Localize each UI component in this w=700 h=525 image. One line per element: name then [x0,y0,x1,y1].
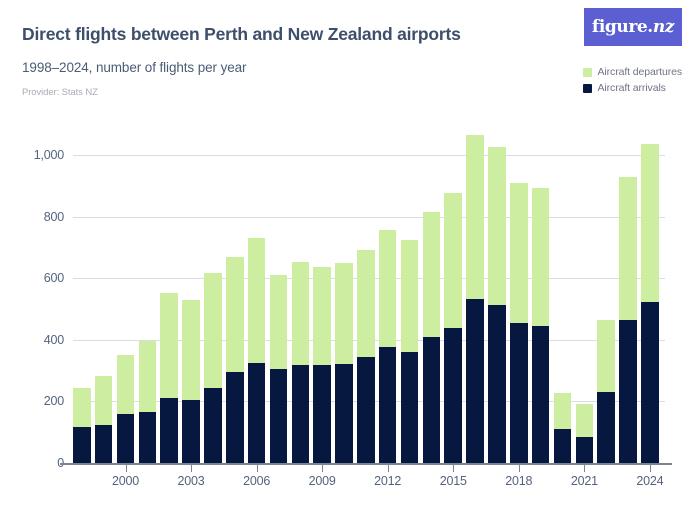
x-axis-tick-label: 2009 [309,474,336,488]
bar-column[interactable] [335,263,353,463]
bar-segment-departures[interactable] [619,177,637,320]
gridline [73,217,665,218]
bar-segment-arrivals[interactable] [117,414,135,463]
bar-column[interactable] [226,257,244,463]
bar-column[interactable] [576,404,594,463]
bar-segment-arrivals[interactable] [95,425,113,463]
bar-column[interactable] [292,262,310,463]
x-axis-tick-label: 2012 [374,474,401,488]
bar-segment-arrivals[interactable] [204,388,222,463]
bar-column[interactable] [73,388,91,463]
bar-segment-arrivals[interactable] [597,392,615,463]
bar-column[interactable] [95,376,113,463]
bar-column[interactable] [357,250,375,463]
bar-segment-departures[interactable] [182,300,200,401]
bar-segment-arrivals[interactable] [619,320,637,463]
bar-segment-arrivals[interactable] [576,437,594,463]
x-axis-tick-label: 2024 [636,474,663,488]
bar-segment-departures[interactable] [335,263,353,364]
bar-segment-arrivals[interactable] [313,365,331,463]
bar-column[interactable] [444,193,462,463]
bar-segment-departures[interactable] [226,257,244,373]
bar-column[interactable] [248,238,266,463]
bar-segment-departures[interactable] [510,183,528,324]
bar-segment-departures[interactable] [401,240,419,352]
bar-segment-departures[interactable] [576,404,594,437]
x-axis-tick-mark [650,465,651,472]
bar-segment-departures[interactable] [597,320,615,391]
bar-column[interactable] [182,300,200,463]
bar-segment-departures[interactable] [73,388,91,427]
bar-segment-arrivals[interactable] [357,357,375,463]
bar-segment-arrivals[interactable] [292,365,310,463]
bar-segment-departures[interactable] [139,341,157,412]
gridline [73,155,665,156]
bar-column[interactable] [139,341,157,463]
y-axis-tick-label: 800 [44,210,64,224]
bar-segment-departures[interactable] [95,376,113,426]
x-axis-tick-label: 2018 [505,474,532,488]
bar-segment-departures[interactable] [292,262,310,365]
bar-segment-arrivals[interactable] [226,372,244,463]
bar-column[interactable] [423,212,441,463]
y-axis-tick-label: 400 [44,333,64,347]
bar-segment-arrivals[interactable] [401,352,419,463]
bar-segment-departures[interactable] [204,273,222,388]
bar-segment-arrivals[interactable] [554,429,572,463]
bar-segment-arrivals[interactable] [73,427,91,463]
bar-segment-arrivals[interactable] [379,347,397,463]
bar-segment-arrivals[interactable] [488,305,506,463]
bar-segment-departures[interactable] [160,293,178,398]
bar-segment-departures[interactable] [641,144,659,302]
bar-segment-departures[interactable] [248,238,266,363]
bar-segment-departures[interactable] [379,230,397,347]
bar-segment-arrivals[interactable] [510,323,528,463]
x-axis-tick-mark [257,465,258,472]
bar-segment-arrivals[interactable] [641,302,659,463]
bar-segment-departures[interactable] [117,355,135,414]
x-axis-tick-label: 2006 [243,474,270,488]
bar-segment-arrivals[interactable] [248,363,266,463]
bar-segment-departures[interactable] [532,188,550,326]
bar-column[interactable] [510,183,528,463]
x-axis-tick-mark [191,465,192,472]
bar-column[interactable] [532,188,550,463]
chart-plot-area: 02004006008001,000 200020032006200920122… [0,0,700,525]
bar-segment-arrivals[interactable] [270,369,288,463]
x-axis-tick-mark [388,465,389,472]
x-axis-tick-mark [584,465,585,472]
bar-segment-arrivals[interactable] [532,326,550,463]
y-axis-tick-label: 600 [44,271,64,285]
figure-container: Direct flights between Perth and New Zea… [0,0,700,525]
bar-segment-arrivals[interactable] [182,400,200,463]
x-axis-tick-mark [453,465,454,472]
bar-segment-departures[interactable] [313,267,331,366]
bar-column[interactable] [597,320,615,463]
bar-column[interactable] [619,177,637,463]
bar-column[interactable] [554,393,572,463]
bar-segment-departures[interactable] [423,212,441,337]
x-axis-tick-label: 2003 [178,474,205,488]
x-axis-tick-label: 2021 [571,474,598,488]
bar-column[interactable] [117,355,135,463]
bar-column[interactable] [488,147,506,463]
x-axis-line [60,463,672,465]
bar-segment-departures[interactable] [357,250,375,357]
x-axis-tick-mark [322,465,323,472]
bar-segment-departures[interactable] [466,135,484,299]
bar-segment-arrivals[interactable] [160,398,178,463]
bar-segment-departures[interactable] [554,393,572,428]
y-axis-tick-label: 200 [44,394,64,408]
x-axis-tick-mark [126,465,127,472]
bar-segment-arrivals[interactable] [139,412,157,463]
bar-column[interactable] [401,240,419,463]
x-axis-tick-mark [519,465,520,472]
bar-column[interactable] [270,275,288,463]
y-axis-tick-label: 1,000 [34,148,64,162]
bar-segment-arrivals[interactable] [444,328,462,463]
bar-column[interactable] [641,144,659,463]
bar-column[interactable] [466,135,484,463]
bar-segment-arrivals[interactable] [335,364,353,463]
bar-column[interactable] [160,293,178,463]
x-axis-tick-label: 2015 [440,474,467,488]
bar-column[interactable] [204,273,222,463]
bar-segment-arrivals[interactable] [423,337,441,463]
bar-segment-arrivals[interactable] [466,299,484,463]
bar-column[interactable] [313,267,331,464]
bar-segment-departures[interactable] [488,147,506,305]
x-axis-tick-label: 2000 [112,474,139,488]
bar-column[interactable] [379,230,397,463]
bar-segment-departures[interactable] [444,193,462,329]
bar-segment-departures[interactable] [270,275,288,369]
